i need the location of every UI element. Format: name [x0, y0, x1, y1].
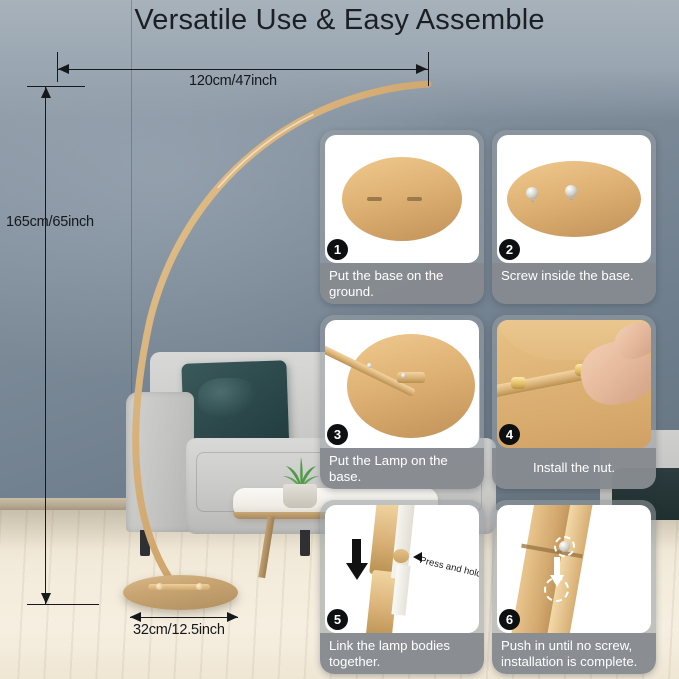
base-slot — [407, 197, 422, 201]
step-card-5[interactable]: Press and hold 5 Link the lamp bodies to… — [320, 500, 484, 674]
step-1-badge: 1 — [327, 239, 348, 260]
lamp-base-disc-icon — [342, 157, 462, 241]
spring-button-icon — [393, 549, 409, 563]
lamp-base-screw — [156, 583, 163, 590]
step-card-2[interactable]: 2 Screw inside the base. — [492, 130, 656, 304]
lamp-rod-on-base-icon — [347, 334, 475, 438]
step-card-1[interactable]: 1 Put the base on the ground. — [320, 130, 484, 304]
lamp-base-screw — [196, 583, 203, 590]
step-card-4[interactable]: 4 Install the nut. — [492, 315, 656, 489]
rod-screw-icon — [367, 363, 372, 368]
screw-highlight-ring — [554, 536, 575, 557]
lamp-base-disc — [123, 575, 238, 610]
plant-pot — [283, 484, 317, 508]
width-dimension-label: 120cm/47inch — [189, 73, 277, 89]
sofa-armrest — [126, 392, 194, 532]
step-2-badge: 2 — [499, 239, 520, 260]
height-arrow-up-icon — [41, 87, 51, 98]
step-5-caption: Link the lamp bodies together. — [320, 633, 484, 674]
down-arrow-icon — [346, 563, 368, 580]
width-dimension-tick-right — [428, 52, 429, 86]
step-1-caption: Put the base on the ground. — [320, 263, 484, 304]
height-dimension-tick-bottom — [27, 604, 99, 605]
width-dimension-line — [57, 69, 428, 70]
step-1-photo — [325, 135, 479, 263]
width-arrow-left-icon — [58, 64, 69, 74]
step-4-badge: 4 — [499, 424, 520, 445]
screws-in-base-icon — [507, 161, 641, 237]
push-arrow-shaft — [554, 557, 560, 577]
nut-icon — [511, 377, 526, 389]
base-dimension-label: 32cm/12.5inch — [133, 622, 225, 638]
product-infographic: Versatile Use & Easy Assemble 120cm/47in… — [0, 0, 679, 679]
step-card-6[interactable]: 6 Push in until no screw, installation i… — [492, 500, 656, 674]
step-4-caption: Install the nut. — [492, 448, 656, 489]
step-5-photo: Press and hold — [325, 505, 479, 633]
step-5-badge: 5 — [327, 609, 348, 630]
screw-head-icon — [526, 187, 538, 199]
page-title: Versatile Use & Easy Assemble — [0, 4, 679, 37]
step-3-photo — [325, 320, 479, 448]
base-arrow-left-icon — [130, 612, 141, 622]
width-arrow-right-icon — [416, 64, 427, 74]
height-dimension-label: 165cm/65inch — [6, 214, 94, 230]
step-card-3[interactable]: 3 Put the Lamp on the base. — [320, 315, 484, 489]
step-6-badge: 6 — [499, 609, 520, 630]
throw-pillow-highlight — [197, 377, 256, 419]
step-3-caption: Put the Lamp on the base. — [320, 448, 484, 489]
sofa-leg — [140, 530, 150, 556]
base-arrow-right-icon — [227, 612, 238, 622]
sofa-leg — [300, 530, 310, 556]
down-arrow-shaft — [352, 539, 361, 565]
screw-head-icon — [565, 185, 577, 197]
rod-screw-icon — [401, 373, 406, 378]
step-2-photo — [497, 135, 651, 263]
step-2-caption: Screw inside the base. — [492, 263, 656, 304]
base-dimension-line — [130, 617, 238, 618]
step-6-caption: Push in until no screw, installation is … — [492, 633, 656, 674]
height-dimension-tick-top — [27, 86, 85, 87]
step-4-photo — [497, 320, 651, 448]
push-target-ring — [544, 577, 569, 602]
height-dimension-line — [45, 86, 46, 604]
press-and-hold-annotation: Press and hold — [419, 555, 479, 580]
height-arrow-down-icon — [41, 593, 51, 604]
step-6-photo — [497, 505, 651, 633]
step-3-badge: 3 — [327, 424, 348, 445]
base-slot — [367, 197, 382, 201]
